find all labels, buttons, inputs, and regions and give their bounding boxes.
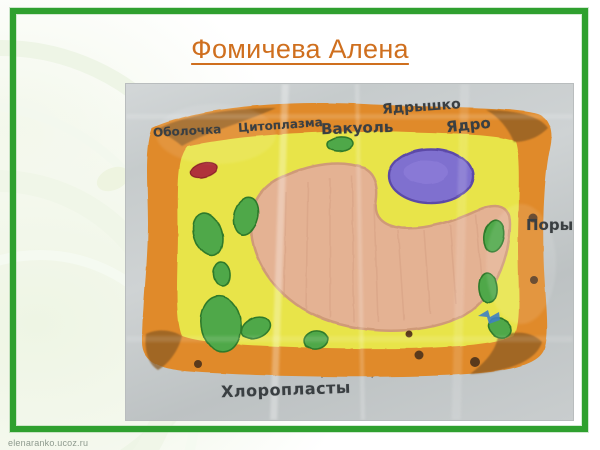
pore — [194, 360, 202, 368]
label-pory: Поры — [526, 216, 573, 234]
label-vacuol: Вакуоль — [321, 118, 394, 139]
pore — [470, 357, 480, 367]
pore — [415, 351, 424, 360]
page-title: Фомичева Алена — [0, 32, 600, 66]
watermark: elenaranko.ucoz.ru — [8, 438, 88, 448]
nucleolus — [404, 160, 448, 184]
cell-diagram-photo: Оболочка Цитоплазма Вакуоль Ядрышко Ядро… — [126, 84, 573, 420]
pore — [406, 331, 413, 338]
pore — [530, 276, 538, 284]
nucleus — [389, 149, 473, 203]
slide-canvas: Фомичева Алена — [0, 0, 600, 450]
